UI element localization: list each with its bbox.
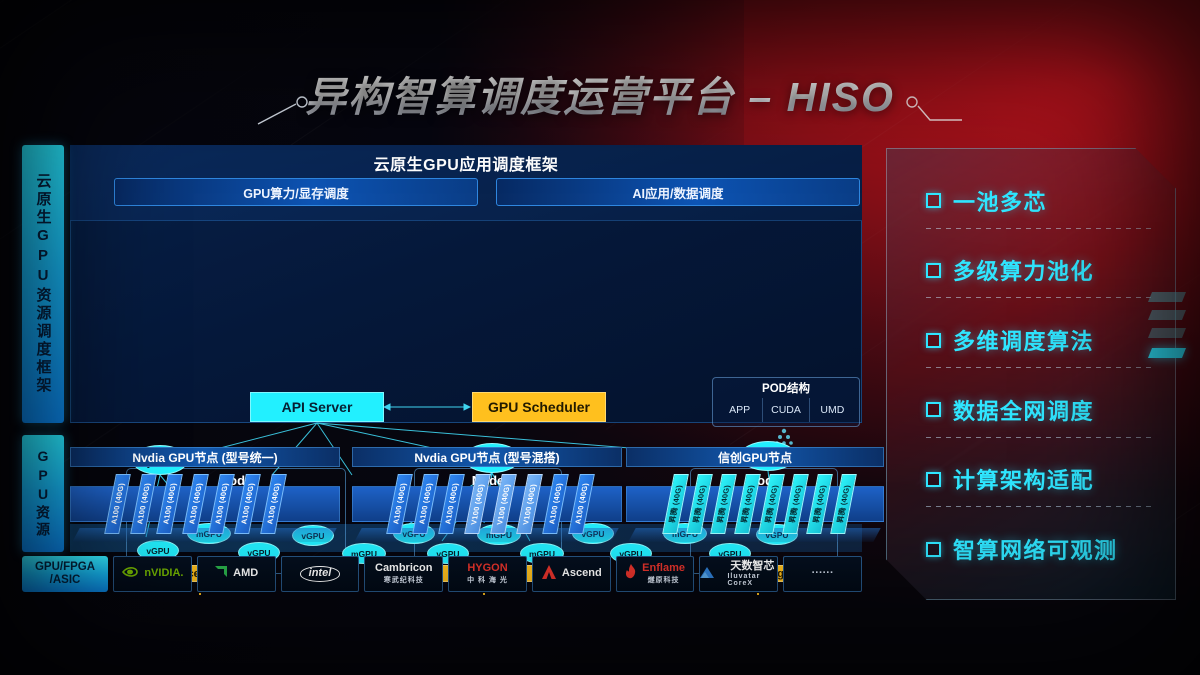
vendor-name: Ascend	[562, 568, 602, 580]
feature-label: 多维调度算法	[953, 324, 1094, 356]
cambricon-logo[interactable]: Cambricon寒武纪科技	[364, 556, 443, 592]
vendor-subname: Iluvatar CoreX	[727, 573, 777, 587]
vendor-text-wrap: ······	[812, 568, 834, 580]
vendor-text-wrap: AMD	[233, 568, 258, 580]
bar-gpu-compute-memory-label: GPU算力/显存调度	[243, 183, 349, 202]
feature-label: 计算架构适配	[953, 463, 1094, 495]
enflame-flame-icon	[625, 564, 637, 584]
pod-structure-box: POD结构 APP CUDA UMD	[712, 377, 860, 427]
feature-item[interactable]: 数据全网调度	[900, 382, 1162, 438]
pod-structure-row: APP CUDA UMD	[717, 398, 855, 422]
feature-item[interactable]: 智算网络可观测	[900, 521, 1162, 577]
feature-item[interactable]: 计算架构适配	[900, 451, 1162, 507]
gpu-node-group: Nvdia GPU节点 (型号统一)A100 (40G)A100 (40G)A1…	[70, 440, 340, 542]
more-logo[interactable]: ······	[783, 556, 862, 592]
vendor-text-wrap: intel	[300, 566, 341, 582]
vendor-text-wrap: Ascend	[562, 568, 602, 580]
feature-divider	[926, 437, 1154, 438]
checkbox-icon	[926, 333, 941, 348]
pod-structure-title: POD结构	[713, 380, 859, 396]
gpu-server-body: A100 (40G)A100 (40G)A100 (40G)A100 (40G)…	[70, 474, 340, 536]
vendor-cells: nVIDIA.AMDintelCambricon寒武纪科技HYGON中 科 海 …	[113, 556, 862, 592]
api-server-box[interactable]: API Server	[250, 392, 384, 422]
slide-title-wrap: 异构智算调度运营平台 – HISO	[0, 62, 1200, 124]
vendor-text-wrap: HYGON中 科 海 光	[467, 563, 508, 585]
feature-divider	[926, 297, 1154, 298]
gpu-node-group-title: 信创GPU节点	[626, 447, 884, 467]
vendor-name: AMD	[233, 568, 258, 580]
gpu-server-body: A100 (40G)A100 (40G)A100 (40G)V100 (40G)…	[352, 474, 622, 536]
feature-label: 数据全网调度	[953, 394, 1094, 426]
enflame-logo[interactable]: Enflame燧原科技	[616, 556, 695, 592]
vendor-bar-label-line2: /ASIC	[50, 574, 81, 587]
feature-list: 一池多芯多级算力池化多维调度算法数据全网调度计算架构适配智算网络可观测	[900, 160, 1162, 590]
api-server-label: API Server	[282, 399, 353, 415]
sidebar-label-cloud-native-text: 云原生GPU资源调度框架	[33, 173, 54, 395]
vendor-logo-bar: GPU/FPGA /ASIC nVIDIA.AMDintelCambricon寒…	[22, 556, 862, 592]
slide-canvas: 异构智算调度运营平台 – HISO 云原生GPU应用调度框架 GPU算力/显存调…	[0, 0, 1200, 675]
vendor-text-wrap: Enflame燧原科技	[642, 563, 685, 585]
bar-gpu-compute-memory[interactable]: GPU算力/显存调度	[114, 178, 478, 206]
checkbox-icon	[926, 193, 941, 208]
vendor-name: nVIDIA.	[144, 568, 183, 580]
gpu-scheduler-label: GPU Scheduler	[488, 399, 590, 415]
bar-ai-app-data-label: AI应用/数据调度	[633, 183, 724, 202]
checkbox-icon	[926, 542, 941, 557]
vendor-name: ······	[812, 568, 834, 580]
ascend-mark-icon	[541, 565, 557, 584]
ascend-logo[interactable]: Ascend	[532, 556, 611, 592]
vendor-name: Enflame	[642, 563, 685, 575]
checkbox-icon	[926, 472, 941, 487]
feature-divider	[926, 228, 1154, 229]
gpu-node-group-title: Nvdia GPU节点 (型号混搭)	[352, 447, 622, 467]
feature-item[interactable]: 多级算力池化	[900, 242, 1162, 298]
checkbox-icon	[926, 402, 941, 417]
gpu-resources-row: Nvdia GPU节点 (型号统一)A100 (40G)A100 (40G)A1…	[22, 440, 862, 550]
gpu-node-group: Nvdia GPU节点 (型号混搭)A100 (40G)A100 (40G)A1…	[352, 440, 622, 542]
gpu-scheduler-box[interactable]: GPU Scheduler	[472, 392, 606, 422]
feature-item[interactable]: 多维调度算法	[900, 312, 1162, 368]
nvidia-logo[interactable]: nVIDIA.	[113, 556, 192, 592]
vendor-name: 天数智芯	[730, 561, 774, 573]
nvidia-eye-icon	[121, 565, 139, 583]
slide-title: 异构智算调度运营平台 – HISO	[305, 63, 895, 123]
hygon-logo[interactable]: HYGON中 科 海 光	[448, 556, 527, 592]
title-decoration-right	[900, 96, 962, 118]
feature-item[interactable]: 一池多芯	[900, 173, 1162, 229]
vendor-bar-label: GPU/FPGA /ASIC	[22, 556, 108, 592]
gpu-node-group: 信创GPU节点昇腾 (40G)昇腾 (40G)昇腾 (40G)昇腾 (40G)昇…	[626, 440, 884, 542]
vendor-text-wrap: 天数智芯Iluvatar CoreX	[727, 561, 777, 587]
title-decoration-left	[258, 96, 320, 118]
feature-label: 多级算力池化	[953, 254, 1094, 286]
vendor-name: HYGON	[467, 563, 507, 575]
pod-structure-cell-app: APP	[717, 398, 763, 422]
bar-ai-app-data[interactable]: AI应用/数据调度	[496, 178, 860, 206]
vendor-subname: 燧原科技	[648, 575, 680, 585]
pod-structure-cell-umd: UMD	[810, 398, 855, 422]
vendor-bar-label-line1: GPU/FPGA	[35, 561, 95, 574]
vendor-subname: 中 科 海 光	[467, 575, 508, 585]
intel-logo[interactable]: intel	[281, 556, 360, 592]
pod-structure-cell-cuda: CUDA	[763, 398, 809, 422]
checkbox-icon	[926, 263, 941, 278]
feature-divider	[926, 506, 1154, 507]
sidebar-label-cloud-native: 云原生GPU资源调度框架	[22, 145, 64, 423]
amd-logo[interactable]: AMD	[197, 556, 276, 592]
gpu-node-group-title: Nvdia GPU节点 (型号统一)	[70, 447, 340, 467]
feature-divider	[926, 367, 1154, 368]
vendor-name: Cambricon	[375, 563, 432, 575]
iluvatar-logo[interactable]: 天数智芯Iluvatar CoreX	[699, 556, 778, 592]
feature-label: 智算网络可观测	[953, 533, 1118, 565]
vendor-text-wrap: nVIDIA.	[144, 568, 183, 580]
vendor-text-wrap: Cambricon寒武纪科技	[375, 563, 432, 585]
amd-arrow-icon	[214, 565, 228, 583]
vendor-name: intel	[300, 566, 341, 582]
feature-label: 一池多芯	[953, 185, 1047, 217]
panel-stripe-accents	[1150, 292, 1184, 378]
gpu-server-body: 昇腾 (40G)昇腾 (40G)昇腾 (40G)昇腾 (40G)昇腾 (40G)…	[626, 474, 884, 536]
framework-header-title: 云原生GPU应用调度框架	[70, 151, 862, 175]
iluvatar-mountain-icon	[700, 565, 722, 583]
vendor-subname: 寒武纪科技	[384, 575, 424, 585]
